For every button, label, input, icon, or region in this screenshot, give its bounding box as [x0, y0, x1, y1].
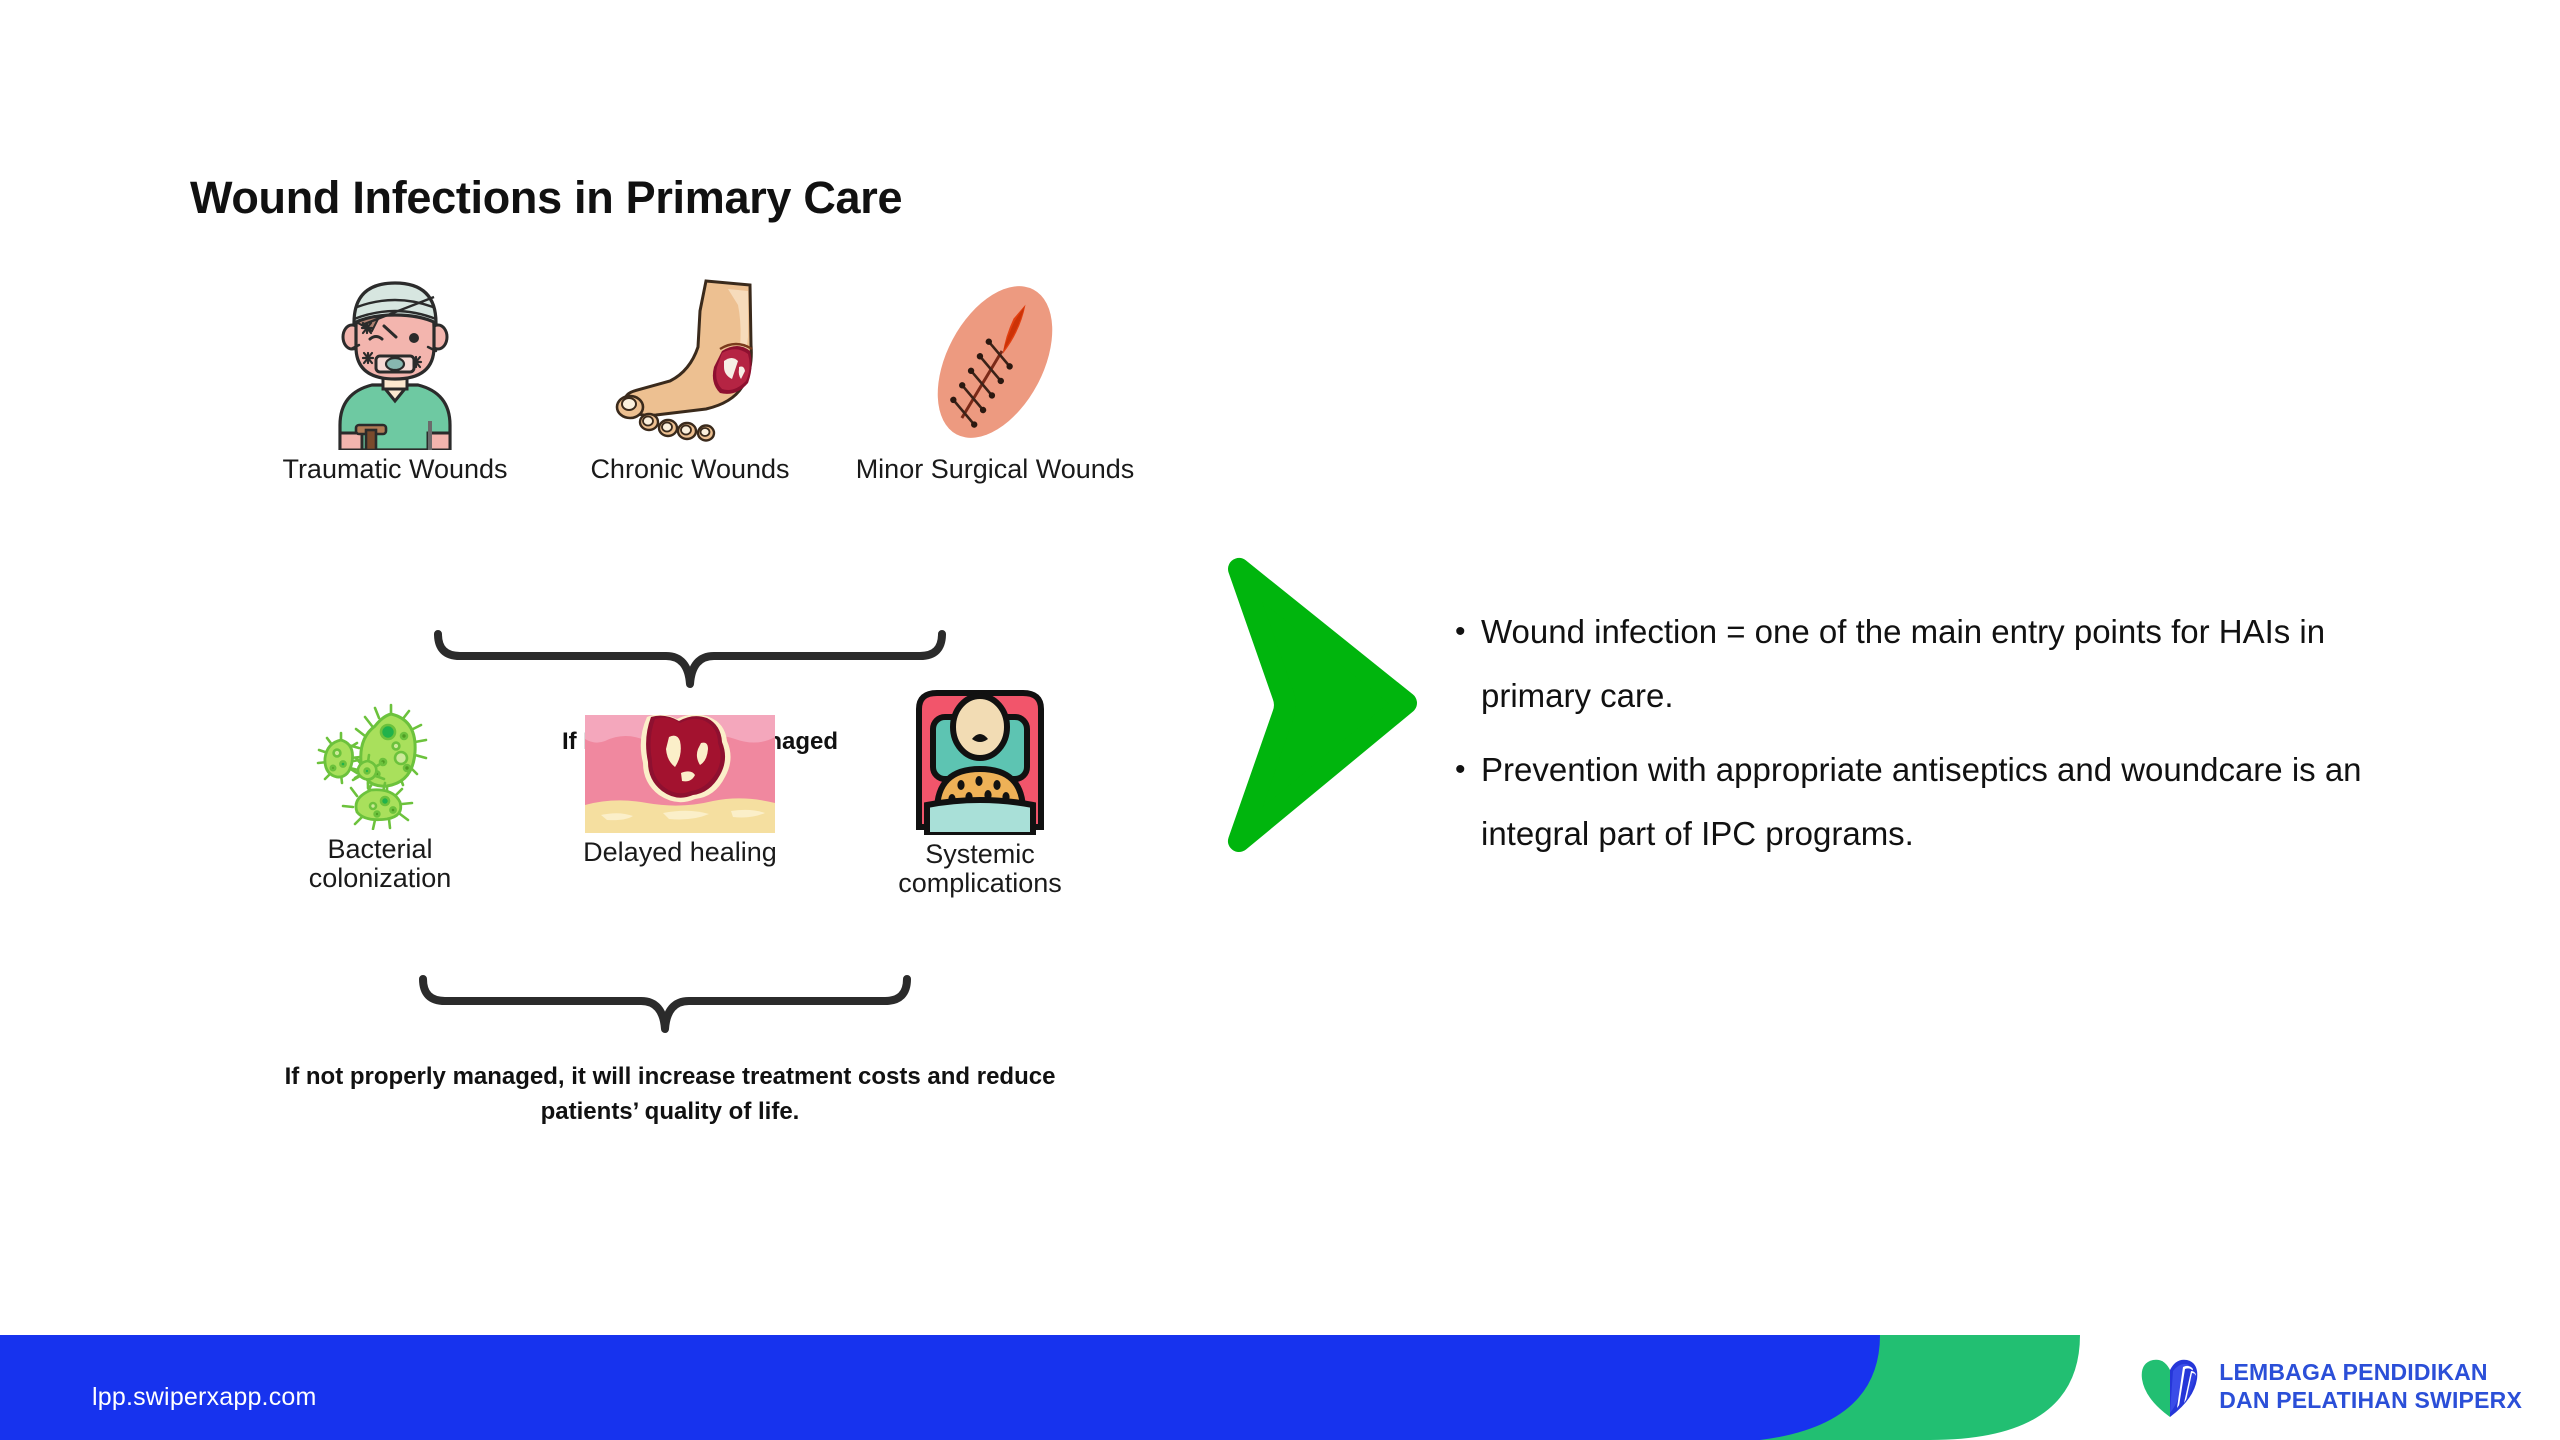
bottom-caption: If not properly managed, it will increas…	[255, 1060, 1085, 1130]
consequence-systemic: Systemic complications	[830, 685, 1130, 898]
swiperx-logo: LEMBAGA PENDIDIKAN DAN PELATIHAN SWIPERX	[2139, 1353, 2522, 1419]
brace-bottom	[415, 975, 915, 1042]
wound-infection-diagram: Traumatic Wounds	[180, 275, 1260, 1155]
consequence-label: Delayed healing	[535, 838, 825, 867]
consequence-label: Bacterial colonization	[240, 835, 520, 893]
patient-in-bed-icon	[830, 685, 1130, 840]
skin-cross-section-wound-icon	[535, 715, 825, 838]
wound-type-chronic: Chronic Wounds	[555, 275, 825, 484]
list-item-text: Prevention with appropriate antiseptics …	[1481, 738, 2375, 866]
consequence-label: Systemic complications	[830, 840, 1130, 898]
logo-mark-icon	[2139, 1353, 2201, 1419]
list-item: • Wound infection = one of the main entr…	[1455, 600, 2375, 728]
green-chevron-arrow	[1225, 555, 1420, 860]
list-item: • Prevention with appropriate antiseptic…	[1455, 738, 2375, 866]
sutured-incision-icon	[810, 275, 1180, 455]
bullet-marker-icon: •	[1455, 600, 1481, 664]
page-title: Wound Infections in Primary Care	[190, 172, 902, 224]
footer-url[interactable]: lpp.swiperxapp.com	[92, 1383, 317, 1412]
injured-patient-icon	[250, 275, 540, 455]
wound-type-traumatic: Traumatic Wounds	[250, 275, 540, 484]
logo-line-2: DAN PELATIHAN SWIPERX	[2219, 1386, 2522, 1414]
slide-footer: lpp.swiperxapp.com LEMBAGA PENDIDIKAN DA…	[0, 1335, 2560, 1440]
bacteria-icon	[240, 700, 520, 835]
wound-type-surgical: Minor Surgical Wounds	[810, 275, 1180, 484]
logo-text: LEMBAGA PENDIDIKAN DAN PELATIHAN SWIPERX	[2219, 1358, 2522, 1414]
consequence-bacterial: Bacterial colonization	[240, 700, 520, 893]
wound-type-label: Minor Surgical Wounds	[810, 455, 1180, 484]
foot-ulcer-icon	[555, 275, 825, 455]
bullet-marker-icon: •	[1455, 738, 1481, 802]
consequence-delayed-healing: Delayed healing	[535, 715, 825, 867]
wound-type-label: Chronic Wounds	[555, 455, 825, 484]
wound-type-label: Traumatic Wounds	[250, 455, 540, 484]
key-points-list: • Wound infection = one of the main entr…	[1455, 600, 2375, 876]
logo-line-1: LEMBAGA PENDIDIKAN	[2219, 1358, 2522, 1386]
list-item-text: Wound infection = one of the main entry …	[1481, 600, 2375, 728]
